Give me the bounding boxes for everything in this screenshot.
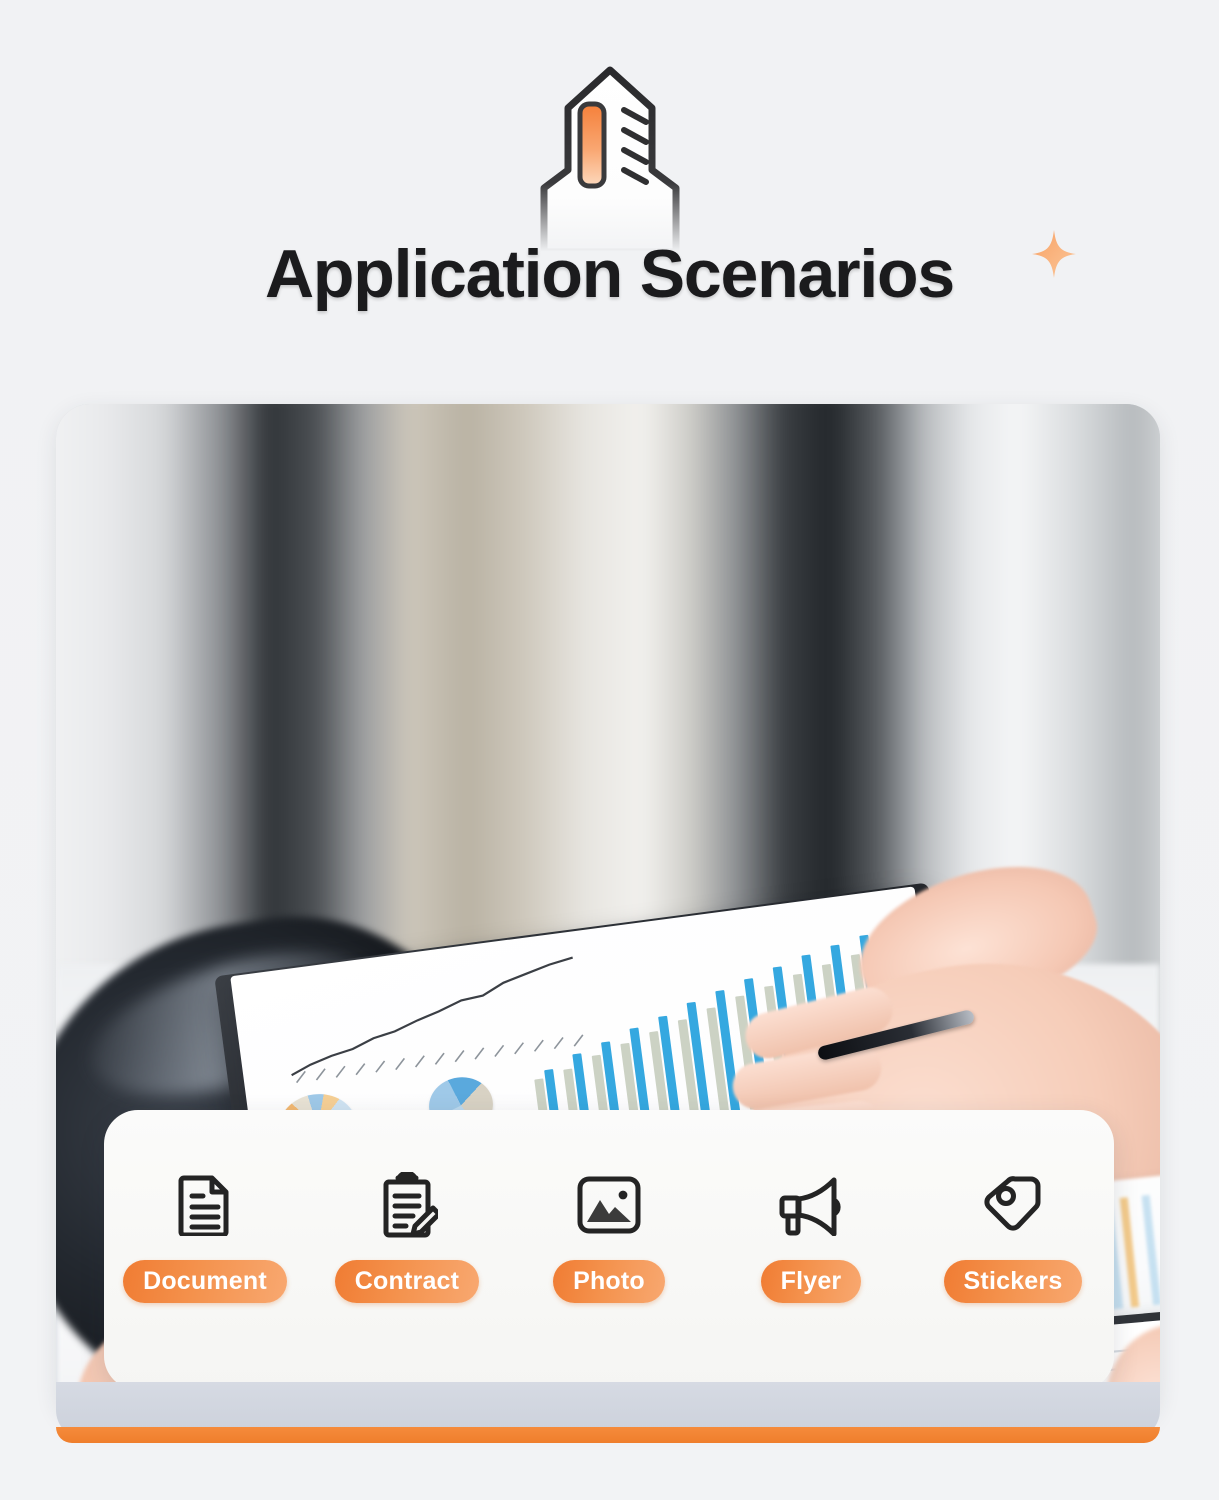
- building-tower-icon: [500, 62, 720, 252]
- card-accent-strip: [56, 1427, 1160, 1443]
- scenario-item-flyer[interactable]: Flyer: [721, 1166, 901, 1303]
- scenario-item-stickers[interactable]: Stickers: [923, 1166, 1103, 1303]
- scenario-label-flyer[interactable]: Flyer: [761, 1260, 862, 1303]
- scenario-badge-list: Document: [104, 1166, 1114, 1303]
- sparkle-icon: [1030, 228, 1078, 280]
- scenario-badge-panel: Document: [104, 1110, 1114, 1390]
- scenario-label-document[interactable]: Document: [123, 1260, 287, 1303]
- scenario-label-contract[interactable]: Contract: [335, 1260, 479, 1303]
- document-file-icon: [168, 1166, 242, 1244]
- clipboard-pen-icon: [370, 1166, 444, 1244]
- scenario-label-stickers[interactable]: Stickers: [944, 1260, 1083, 1303]
- price-tag-icon: [976, 1166, 1050, 1244]
- page-root: Application Scenarios: [0, 0, 1219, 1500]
- scenario-label-photo[interactable]: Photo: [553, 1260, 665, 1303]
- image-picture-icon: [572, 1166, 646, 1244]
- page-header: Application Scenarios: [0, 0, 1219, 380]
- scenario-item-photo[interactable]: Photo: [519, 1166, 699, 1303]
- megaphone-icon: [774, 1166, 848, 1244]
- scenario-item-contract[interactable]: Contract: [317, 1166, 497, 1303]
- scenario-item-document[interactable]: Document: [115, 1166, 295, 1303]
